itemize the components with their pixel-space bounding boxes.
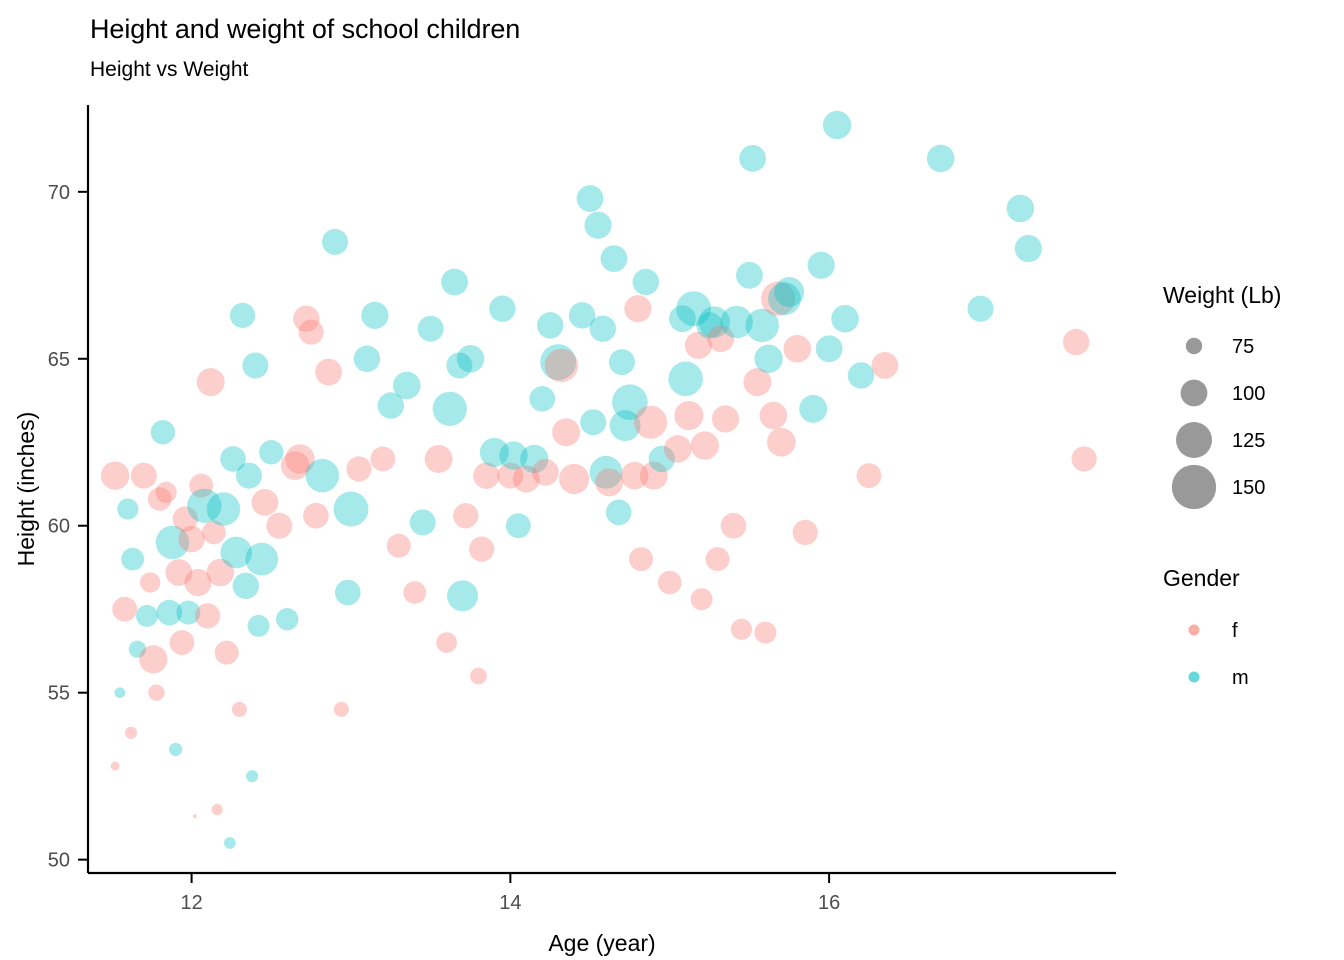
data-point [629, 547, 653, 571]
data-point [831, 305, 859, 333]
data-point [872, 352, 899, 379]
data-point [595, 468, 623, 496]
data-point [470, 668, 487, 685]
data-point [545, 349, 579, 383]
size-legend-swatch [1176, 422, 1212, 458]
size-legend-item[interactable]: 75 [1186, 336, 1254, 358]
y-axis-title: Height (inches) [13, 412, 39, 567]
data-point [823, 111, 851, 139]
data-point [927, 145, 955, 173]
data-point [674, 401, 703, 430]
data-point [197, 368, 225, 396]
data-point [112, 597, 137, 622]
data-point [469, 536, 494, 561]
plot-canvas: 5055606570121416Age (year)Height (inches… [0, 0, 1344, 960]
data-point [601, 245, 628, 272]
data-point [453, 503, 478, 528]
data-point [774, 277, 804, 307]
data-point [664, 435, 692, 463]
size-legend-label: 100 [1232, 383, 1265, 405]
data-point [760, 402, 788, 430]
data-point [246, 770, 258, 782]
data-point [111, 762, 120, 771]
size-legend-swatch [1181, 380, 1208, 407]
size-legend-item[interactable]: 150 [1172, 465, 1266, 509]
data-point [624, 295, 651, 322]
data-point [136, 605, 158, 627]
data-point [242, 352, 268, 378]
data-point [506, 513, 531, 538]
data-point [754, 345, 782, 373]
data-point [178, 526, 204, 552]
data-point [634, 406, 667, 439]
data-point [233, 573, 259, 599]
data-point [169, 743, 182, 756]
legend-layer: Weight (Lb)75100125150Genderfm [1163, 282, 1281, 689]
data-point [361, 302, 388, 329]
data-point [306, 459, 340, 493]
data-point [793, 520, 818, 545]
y-tick-label: 70 [48, 182, 70, 204]
y-tick-label: 60 [48, 516, 70, 538]
data-point [148, 685, 164, 701]
data-point [532, 459, 559, 486]
data-point [436, 632, 457, 653]
data-point [117, 498, 138, 519]
data-point [335, 580, 361, 606]
x-tick-label: 12 [180, 892, 202, 914]
color-legend-item-m[interactable]: m [1189, 667, 1249, 689]
data-point [1072, 446, 1097, 471]
data-point [767, 428, 796, 457]
y-tick-label: 65 [48, 349, 70, 371]
data-point [156, 482, 177, 503]
data-point [457, 345, 485, 373]
data-point [816, 335, 843, 362]
data-point [590, 316, 616, 342]
data-point [303, 503, 329, 529]
x-tick-label: 14 [499, 892, 521, 914]
data-point [232, 702, 247, 717]
data-point [410, 509, 436, 535]
data-point [334, 492, 369, 527]
data-point [346, 456, 371, 481]
data-point [552, 418, 580, 446]
color-legend-swatch [1189, 672, 1200, 683]
color-legend-title: Gender [1163, 565, 1240, 591]
data-point [668, 362, 703, 397]
data-point [276, 608, 298, 630]
data-point [354, 346, 380, 372]
y-tick-label: 55 [48, 683, 70, 705]
data-point [236, 463, 262, 489]
data-point [606, 500, 632, 526]
size-legend-label: 150 [1232, 477, 1265, 499]
data-point [721, 513, 747, 539]
data-point [968, 296, 994, 322]
color-legend-swatch [1189, 625, 1200, 636]
data-point [170, 630, 195, 655]
data-point [211, 804, 222, 815]
data-point [266, 513, 292, 539]
color-legend-label: f [1232, 620, 1238, 642]
data-point [299, 319, 324, 344]
data-point [403, 581, 426, 604]
y-tick-label: 50 [48, 850, 70, 872]
data-point [489, 295, 515, 321]
data-point [252, 489, 279, 516]
color-legend-item-f[interactable]: f [1189, 620, 1239, 642]
data-point [577, 185, 604, 212]
data-point [230, 303, 255, 328]
x-axis-title: Age (year) [548, 930, 655, 956]
data-point [691, 588, 713, 610]
size-legend-label: 125 [1232, 430, 1265, 452]
data-point [101, 461, 129, 489]
data-point [151, 420, 175, 444]
data-point [207, 492, 241, 526]
data-point [857, 463, 882, 488]
data-point [1063, 329, 1089, 355]
x-tick-label: 16 [818, 892, 840, 914]
data-point [559, 464, 589, 494]
size-legend-item[interactable]: 100 [1181, 380, 1266, 407]
data-point [139, 645, 167, 673]
size-legend-label: 75 [1232, 336, 1254, 358]
data-point [259, 440, 283, 464]
data-point [609, 349, 635, 375]
data-point [370, 447, 395, 472]
data-point [193, 814, 197, 818]
data-point [245, 543, 278, 576]
data-point [754, 622, 776, 644]
data-point [739, 145, 766, 172]
color-legend-label: m [1232, 667, 1249, 689]
data-point [334, 702, 349, 717]
data-points-layer [101, 111, 1097, 849]
data-point [537, 312, 563, 338]
data-point [224, 837, 236, 849]
data-point [425, 445, 453, 473]
data-point [125, 727, 137, 739]
data-point [691, 431, 719, 459]
size-legend-item[interactable]: 125 [1176, 422, 1265, 458]
data-point [393, 372, 421, 400]
data-point [322, 229, 348, 255]
data-point [140, 572, 160, 592]
data-point [215, 641, 239, 665]
data-point [1015, 235, 1042, 262]
data-point [131, 463, 157, 489]
size-legend-title: Weight (Lb) [1163, 282, 1281, 308]
data-point [848, 362, 874, 388]
data-point [433, 392, 467, 426]
data-point [783, 335, 811, 363]
data-point [1007, 195, 1035, 223]
data-point [115, 687, 126, 698]
size-legend-swatch [1186, 338, 1202, 354]
data-point [584, 212, 611, 239]
data-point [248, 615, 270, 637]
data-point [315, 359, 342, 386]
size-legend-swatch [1172, 465, 1216, 509]
data-point [706, 547, 730, 571]
data-point [712, 405, 739, 432]
data-point [441, 269, 468, 296]
data-point [633, 269, 659, 295]
scatter-plot-figure: Height and weight of school children Hei… [0, 0, 1344, 960]
data-point [658, 571, 682, 595]
data-point [418, 316, 444, 342]
data-point [799, 395, 827, 423]
data-point [529, 386, 555, 412]
data-point [447, 580, 478, 611]
data-point [580, 409, 606, 435]
data-point [195, 603, 220, 628]
data-point [736, 262, 763, 289]
data-point [387, 534, 411, 558]
data-point [808, 252, 835, 279]
data-point [731, 619, 752, 640]
data-point [121, 548, 144, 571]
